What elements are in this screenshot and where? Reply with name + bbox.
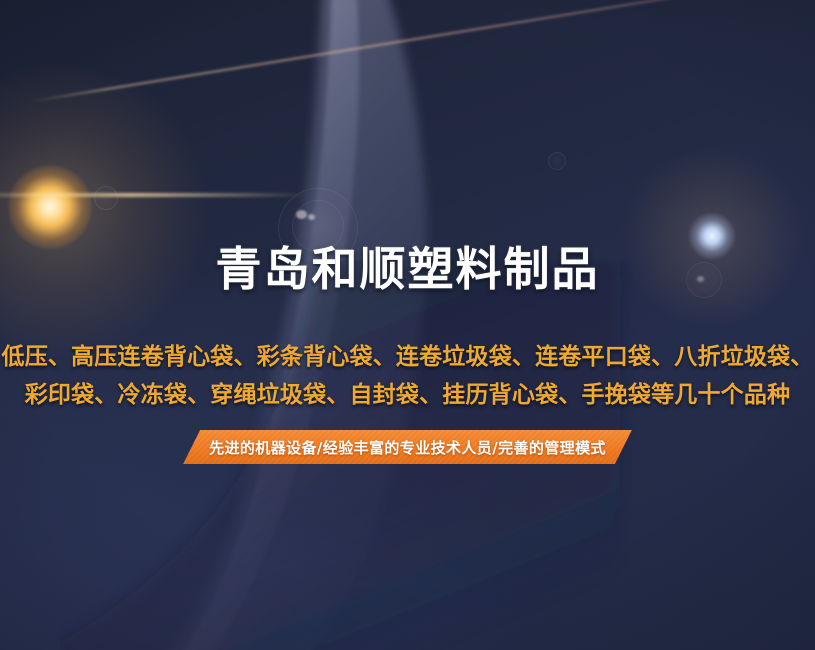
tagline-ribbon: 先进的机器设备/经验丰富的专业技术人员/完善的管理模式 <box>183 430 632 464</box>
subtitle-line-1: 低压、高压连卷背心袋、彩条背心袋、连卷垃圾袋、连卷平口袋、八折垃圾袋、 <box>0 338 815 376</box>
banner-subtitle: 低压、高压连卷背心袋、彩条背心袋、连卷垃圾袋、连卷平口袋、八折垃圾袋、 彩印袋、… <box>0 338 815 414</box>
subtitle-line-2: 彩印袋、冷冻袋、穿绳垃圾袋、自封袋、挂历背心袋、手挽袋等几十个品种 <box>0 376 815 414</box>
ribbon-container: 先进的机器设备/经验丰富的专业技术人员/完善的管理模式 <box>0 430 815 464</box>
banner-title: 青岛和顺塑料制品 <box>0 246 815 292</box>
hero-banner: 青岛和顺塑料制品 低压、高压连卷背心袋、彩条背心袋、连卷垃圾袋、连卷平口袋、八折… <box>0 0 815 650</box>
banner-content: 青岛和顺塑料制品 低压、高压连卷背心袋、彩条背心袋、连卷垃圾袋、连卷平口袋、八折… <box>0 0 815 650</box>
